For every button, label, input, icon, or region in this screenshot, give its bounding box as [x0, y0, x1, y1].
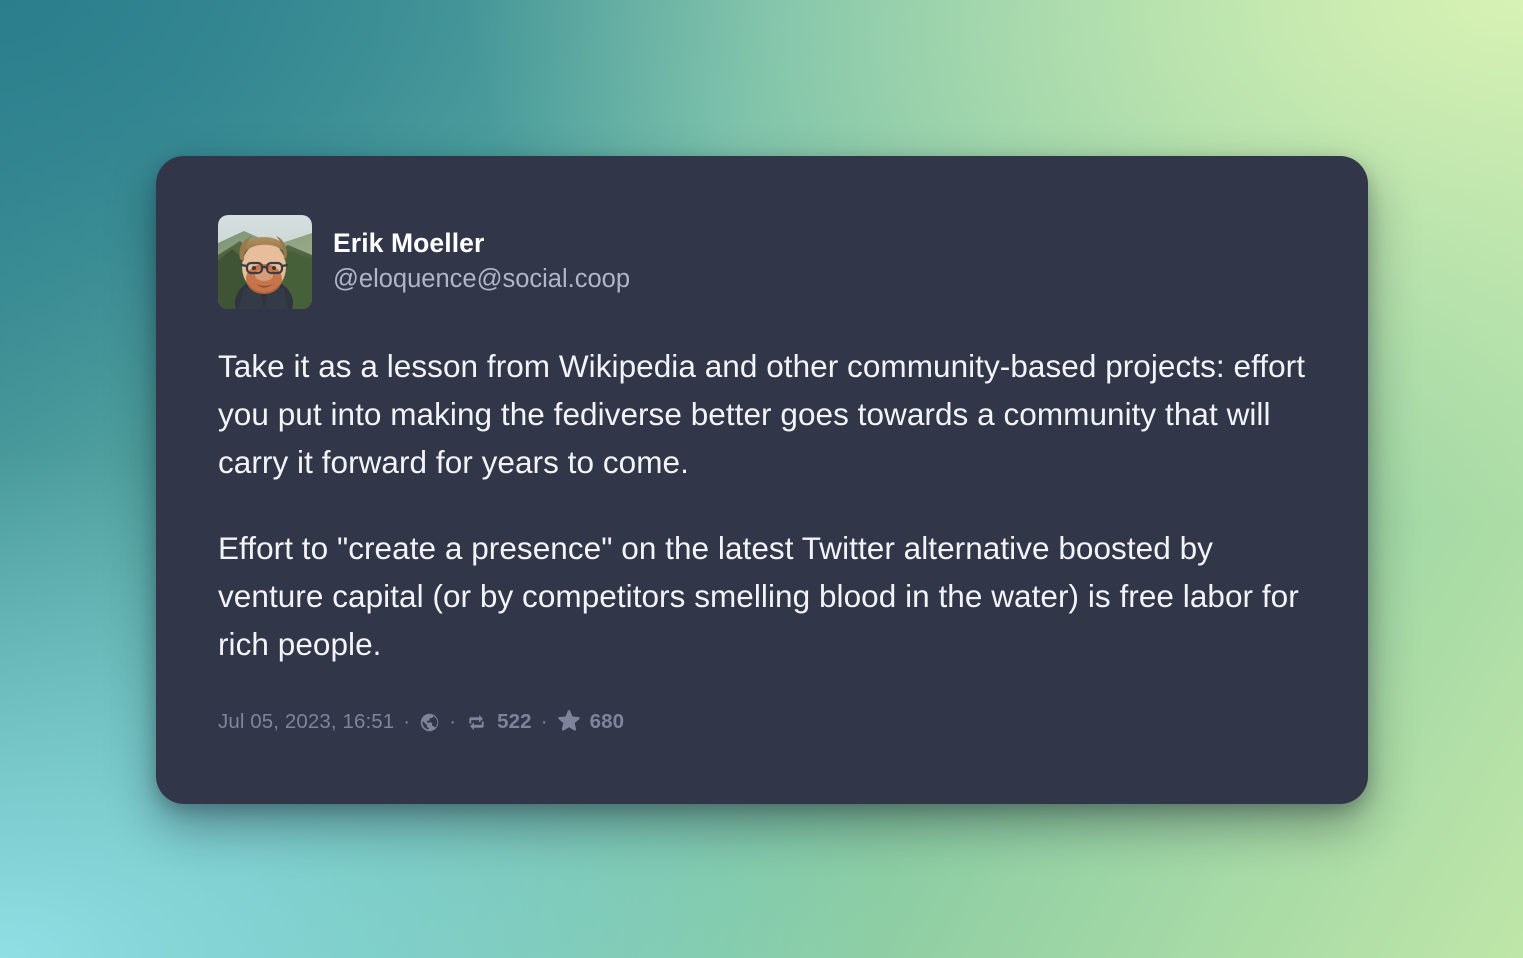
post-paragraph: Take it as a lesson from Wikipedia and o…	[218, 342, 1306, 486]
meta-separator: ·	[541, 710, 548, 734]
post-paragraph: Effort to "create a presence" on the lat…	[218, 524, 1306, 668]
meta-separator: ·	[403, 710, 410, 734]
favourite-count: 680	[590, 710, 625, 734]
boost-count: 522	[497, 710, 532, 734]
display-name: Erik Moeller	[333, 227, 630, 261]
star-icon	[557, 710, 581, 734]
boost-stat[interactable]: 522	[465, 710, 532, 734]
post-card: Erik Moeller @eloquence@social.coop Take…	[156, 156, 1368, 804]
account-handle[interactable]: @eloquence@social.coop	[333, 263, 630, 296]
avatar[interactable]	[218, 215, 312, 309]
globe-icon	[419, 712, 440, 733]
post-content: Take it as a lesson from Wikipedia and o…	[218, 342, 1306, 668]
account-names: Erik Moeller @eloquence@social.coop	[333, 227, 630, 296]
user-avatar-photo	[218, 215, 312, 309]
boost-icon	[465, 711, 488, 734]
account-header[interactable]: Erik Moeller @eloquence@social.coop	[218, 212, 1306, 312]
post-meta: Jul 05, 2023, 16:51 · · 522 · 680	[218, 710, 1306, 734]
post-timestamp[interactable]: Jul 05, 2023, 16:51	[218, 710, 394, 734]
meta-separator: ·	[449, 710, 456, 734]
favourite-stat[interactable]: 680	[557, 710, 625, 734]
